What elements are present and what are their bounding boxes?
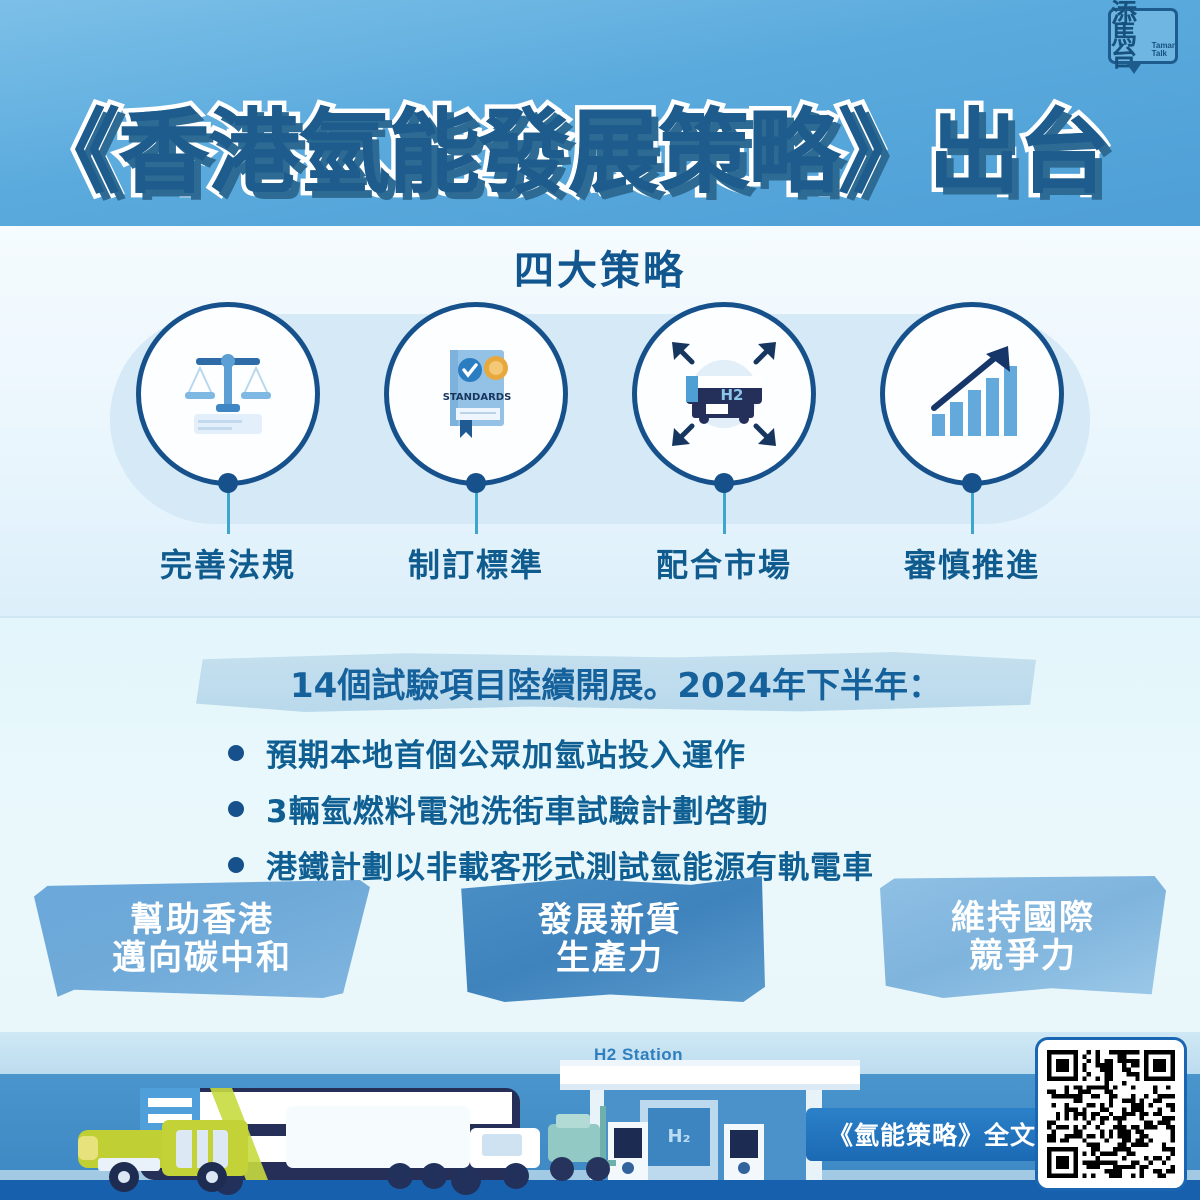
pilot-banner: 14個試驗項目陸續開展。2024年下半年： — [196, 652, 1036, 712]
strategy-pillar-market[interactable]: H2 配合市場 — [624, 302, 824, 586]
pillar-connector-line — [971, 490, 974, 534]
pillar-connector-dot — [714, 473, 734, 493]
street-washer-truck-illustration — [78, 1120, 248, 1192]
pillar-icon-circle — [880, 302, 1064, 486]
goal-tag-line1: 維持國際 — [951, 899, 1095, 937]
bullet-dot-icon — [228, 745, 244, 761]
strategy-pillar-label: 配合市場 — [656, 540, 792, 586]
pillar-connector-dot — [962, 473, 982, 493]
fulltext-link-label[interactable]: 《氫能策略》全文 — [806, 1108, 1062, 1161]
pillar-connector-dot — [466, 473, 486, 493]
pillar-connector-line — [723, 490, 726, 534]
logo-english-label: Tamar Talk — [1152, 42, 1175, 61]
goal-tag-list: 幫助香港 邁向碳中和 發展新質 生產力 維持國際 競爭力 — [0, 876, 1200, 1006]
standards-book-text: STANDARDS — [443, 392, 512, 403]
bullet-dot-icon — [228, 801, 244, 817]
strategy-pillar-label: 制訂標準 — [408, 540, 544, 586]
pilot-bullet-list: 預期本地首個公眾加氫站投入運作 3輛氫燃料電池洗街車試驗計劃啓動 港鐵計劃以非載… — [228, 730, 1128, 898]
logo-chinese-label: 添馬台 — [1111, 3, 1150, 69]
goal-tag-line2: 生產力 — [556, 939, 664, 977]
pilot-bullet-text: 3輛氫燃料電池洗街車試驗計劃啓動 — [266, 786, 769, 831]
qr-code-image — [1047, 1050, 1175, 1178]
growth-bar-chart-icon — [916, 338, 1028, 450]
pillar-icon-circle — [136, 302, 320, 486]
page-title: 《香港氫能發展策略》出台 — [28, 78, 1108, 211]
goal-tag-competitiveness: 維持國際 競爭力 — [880, 876, 1166, 998]
strategy-pillar-standards[interactable]: STANDARDS 制訂標準 — [376, 302, 576, 586]
pillar-connector-dot — [218, 473, 238, 493]
strategy-pillar-progress[interactable]: 審慎推進 — [872, 302, 1072, 586]
station-sign-label: H2 Station — [594, 1045, 683, 1065]
forklift-illustration — [548, 1106, 616, 1181]
speech-bubble-icon: 添馬台 Tamar Talk — [1108, 8, 1178, 64]
bus-h2-badge: H2 — [721, 386, 744, 404]
standards-book-icon: STANDARDS — [420, 338, 532, 450]
list-item: 預期本地首個公眾加氫站投入運作 — [228, 730, 1128, 775]
goal-tag-carbon-neutral: 幫助香港 邁向碳中和 — [34, 880, 370, 998]
pillar-icon-circle: STANDARDS — [384, 302, 568, 486]
strategy-pillar-list: 完善法規 STANDARDS — [0, 302, 1200, 586]
goal-tag-line2: 邁向碳中和 — [112, 939, 292, 977]
goal-tag-line1: 發展新質 — [538, 901, 682, 939]
bottom-illustration: H₂ — [0, 1032, 1200, 1200]
goal-tag-line2: 競爭力 — [969, 937, 1077, 975]
pillar-connector-line — [475, 490, 478, 534]
tamar-talk-logo: 添馬台 Tamar Talk — [1108, 8, 1182, 80]
list-item: 3輛氫燃料電池洗街車試驗計劃啓動 — [228, 786, 1128, 831]
pillar-icon-circle: H2 — [632, 302, 816, 486]
infographic-page: 《香港氫能發展策略》出台 《香港氫能發展策略》出台 添馬台 Tamar Talk… — [0, 0, 1200, 1200]
bullet-dot-icon — [228, 857, 244, 873]
hydrogen-bus-expand-icon: H2 — [662, 332, 786, 456]
pilot-bullet-text: 預期本地首個公眾加氫站投入運作 — [266, 730, 746, 775]
goal-tag-line1: 幫助香港 — [130, 901, 274, 939]
strategy-pillar-label: 審慎推進 — [904, 540, 1040, 586]
header-banner: 《香港氫能發展策略》出台 《香港氫能發展策略》出台 添馬台 Tamar Talk — [0, 0, 1200, 226]
strategy-pillar-regulation[interactable]: 完善法規 — [128, 302, 328, 586]
pilot-banner-text: 14個試驗項目陸續開展。2024年下半年： — [290, 658, 942, 707]
svg-text:H₂: H₂ — [668, 1126, 691, 1147]
qr-code[interactable] — [1038, 1040, 1184, 1188]
strategy-section: 四大策略 — [0, 226, 1200, 616]
pilot-section: 14個試驗項目陸續開展。2024年下半年： 預期本地首個公眾加氫站投入運作 3輛… — [0, 616, 1200, 1032]
scales-of-justice-icon — [172, 338, 284, 450]
strategy-pillar-label: 完善法規 — [160, 540, 296, 586]
pillar-connector-line — [227, 490, 230, 534]
goal-tag-new-productivity: 發展新質 生產力 — [455, 876, 765, 1002]
strategy-section-title: 四大策略 — [0, 238, 1200, 296]
